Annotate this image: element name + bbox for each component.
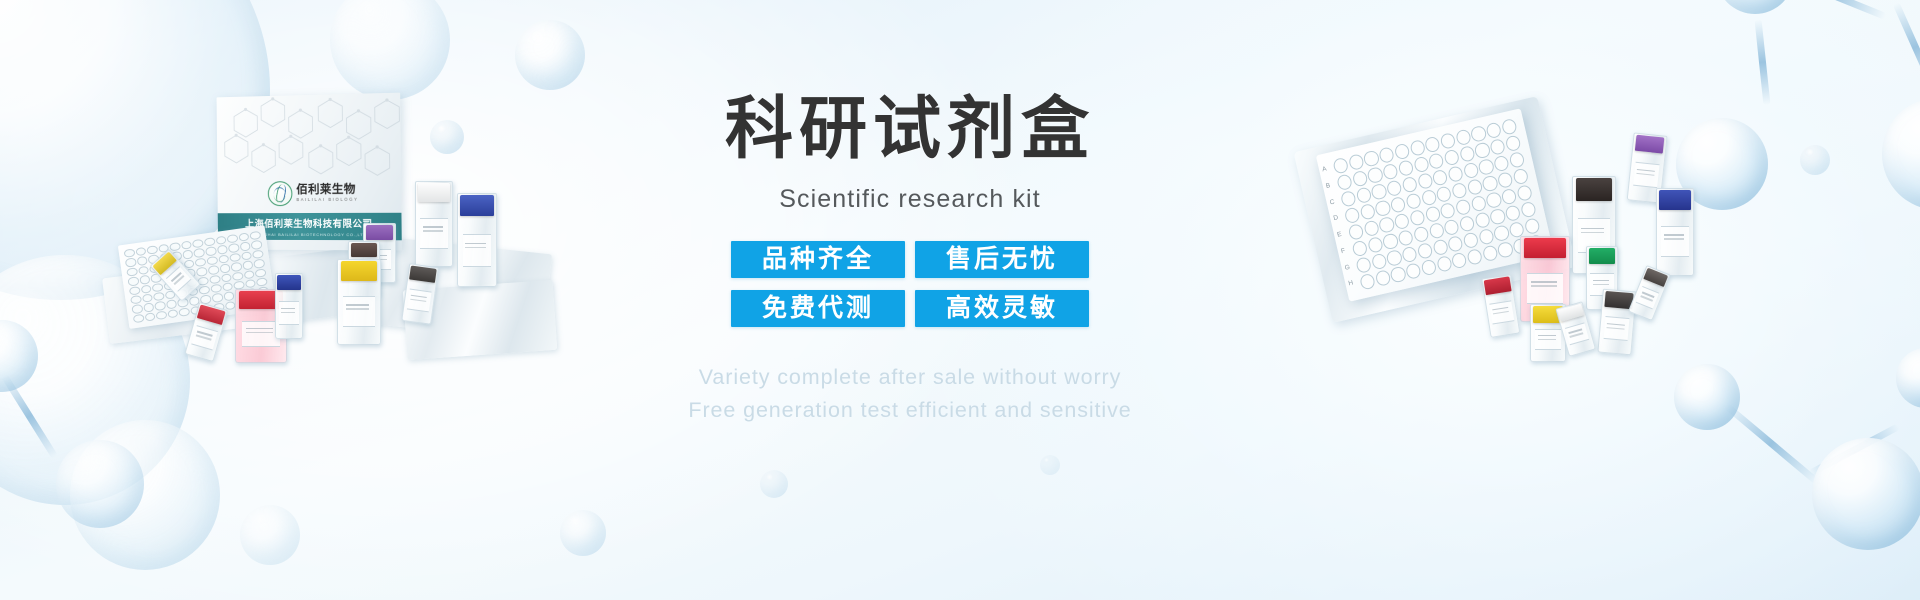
plate-well <box>1348 153 1365 171</box>
plate-well <box>1470 195 1487 213</box>
tagline-line-1: Variety complete after sale without worr… <box>600 361 1220 394</box>
plate-well <box>1413 156 1430 174</box>
plate-well <box>1451 182 1468 200</box>
plate-well <box>1416 242 1433 260</box>
plate-well <box>1409 209 1426 227</box>
bubble-decoration <box>240 505 300 565</box>
plate-well <box>1370 252 1387 270</box>
bubble-decoration <box>1040 455 1060 475</box>
plate-well <box>1424 205 1441 223</box>
plate-well <box>1432 238 1449 256</box>
plate-well <box>1409 139 1426 157</box>
page-subtitle: Scientific research kit <box>600 185 1220 214</box>
plate-well <box>1474 211 1491 229</box>
plate-well <box>1374 199 1391 217</box>
plate-well <box>1378 146 1395 164</box>
plate-well <box>1435 255 1452 273</box>
plate-well <box>1390 196 1407 214</box>
vial-blue-cap <box>1656 190 1694 276</box>
vial-white-cap <box>415 183 453 267</box>
plate-well <box>1508 151 1525 169</box>
plate-well <box>1397 159 1414 177</box>
hero-banner: 佰利莱生物 BAILILAI BIOLOGY 上海佰利莱生物科技有限公司 SHA… <box>0 0 1920 600</box>
plate-well <box>1428 222 1445 240</box>
plate-well <box>1413 225 1430 243</box>
dna-helix-icon <box>268 181 293 206</box>
plate-well <box>1344 206 1361 224</box>
plate-well <box>1497 240 1514 258</box>
bubble-decoration <box>760 470 788 498</box>
plate-well <box>1439 132 1456 150</box>
plate-well <box>1447 235 1464 253</box>
plate-well <box>1489 138 1506 156</box>
plate-well <box>1466 178 1483 196</box>
bubble-decoration <box>560 510 606 556</box>
plate-well <box>1516 184 1533 202</box>
plate-well <box>1439 202 1456 220</box>
vial-grey-cap <box>1628 267 1670 321</box>
plate-well <box>1443 149 1460 167</box>
plate-well <box>1455 198 1472 216</box>
plate-well <box>1336 173 1353 191</box>
plate-well <box>1367 166 1384 184</box>
banner-copy: 科研试剂盒 Scientific research kit 品种齐全 售后无忧 … <box>600 95 1220 426</box>
plate-well <box>1378 216 1395 234</box>
plate-well <box>1393 143 1410 161</box>
plate-well <box>1455 129 1472 147</box>
plate-well <box>1501 118 1518 136</box>
brand-logo: 佰利莱生物 BAILILAI BIOLOGY <box>268 181 359 207</box>
plate-well <box>1416 172 1433 190</box>
plate-well <box>1435 185 1452 203</box>
plate-well <box>1501 187 1518 205</box>
bubble-decoration <box>70 420 220 570</box>
plate-well <box>1405 192 1422 210</box>
plate-well <box>1401 245 1418 263</box>
plate-well <box>1512 167 1529 185</box>
vial-blue-cap <box>275 275 303 339</box>
plate-well <box>1386 179 1403 197</box>
company-name-en: SHANGHAI BAILILAI BIOTECHNOLOGY CO.,LTD <box>251 232 367 237</box>
page-title: 科研试剂盒 <box>600 95 1220 163</box>
plate-well <box>1390 265 1407 283</box>
bubble-decoration <box>515 20 585 90</box>
plate-well <box>1355 256 1372 274</box>
bubble-decoration <box>330 0 450 100</box>
feature-badge-aftersale[interactable]: 售后无忧 <box>915 241 1089 278</box>
tagline-line-2: Free generation test efficient and sensi… <box>600 394 1220 427</box>
brand-name-en: BAILILAI BIOLOGY <box>296 198 358 203</box>
plate-well <box>1504 204 1521 222</box>
plate-well <box>1451 251 1468 269</box>
plate-well <box>1504 134 1521 152</box>
plate-well <box>1367 236 1384 254</box>
plate-well <box>1462 231 1479 249</box>
plate-well <box>1424 136 1441 154</box>
plate-well <box>1351 170 1368 188</box>
plate-well <box>1359 203 1376 221</box>
plate-well <box>1520 200 1537 218</box>
molecule-decoration-top-right <box>1700 0 1920 230</box>
plate-well <box>1470 125 1487 143</box>
plate-well <box>1466 248 1483 266</box>
plate-well <box>1447 165 1464 183</box>
plate-well <box>1363 150 1380 168</box>
plate-well <box>1405 262 1422 280</box>
plate-well <box>1397 229 1414 247</box>
plate-well <box>1428 152 1445 170</box>
plate-well <box>1523 217 1540 235</box>
plate-well <box>1359 272 1376 290</box>
tagline-block: Variety complete after sale without worr… <box>600 361 1220 426</box>
vial-grey-cap <box>1597 291 1636 356</box>
plate-well <box>1332 157 1349 175</box>
feature-badge-grid: 品种齐全 售后无忧 免费代测 高效灵敏 <box>731 241 1089 327</box>
feature-badge-sensitive[interactable]: 高效灵敏 <box>915 290 1089 327</box>
plate-well <box>1355 186 1372 204</box>
plate-well <box>1351 239 1368 257</box>
plate-well <box>1340 190 1357 208</box>
plate-well <box>1363 219 1380 237</box>
plate-well <box>1474 141 1491 159</box>
plate-well <box>1443 218 1460 236</box>
plate-well <box>1382 163 1399 181</box>
plate-well <box>1489 207 1506 225</box>
brand-name-cn: 佰利莱生物 <box>296 184 358 196</box>
plate-well <box>1347 223 1364 241</box>
vial-yellow-cap <box>337 261 381 345</box>
plate-well <box>1458 145 1475 163</box>
plate-well <box>1401 176 1418 194</box>
plate-well <box>1458 215 1475 233</box>
plate-well <box>1485 121 1502 139</box>
plate-well <box>1478 158 1495 176</box>
product-photo-right: A B C D E F G H <box>1300 120 1720 410</box>
vial-blue-cap <box>457 195 497 287</box>
plate-well <box>1393 212 1410 230</box>
plate-well <box>1386 249 1403 267</box>
vial-crimson-cap <box>1482 276 1521 338</box>
plate-well <box>1493 154 1510 172</box>
plate-well <box>1497 171 1514 189</box>
plate-well <box>1370 183 1387 201</box>
plate-well <box>1462 162 1479 180</box>
feature-badge-freetest[interactable]: 免费代测 <box>731 290 905 327</box>
bubble-decoration <box>1800 145 1830 175</box>
plate-well <box>1420 189 1437 207</box>
plate-well <box>1478 228 1495 246</box>
plate-well <box>1485 191 1502 209</box>
plate-well <box>1481 244 1498 262</box>
feature-badge-variety[interactable]: 品种齐全 <box>731 241 905 278</box>
plate-well <box>1382 232 1399 250</box>
plate-well <box>1432 169 1449 187</box>
plate-well <box>1481 174 1498 192</box>
plate-well <box>1374 269 1391 287</box>
plate-well <box>1493 224 1510 242</box>
plate-well <box>1420 258 1437 276</box>
product-photo-left: 佰利莱生物 BAILILAI BIOLOGY 上海佰利莱生物科技有限公司 SHA… <box>105 95 565 395</box>
